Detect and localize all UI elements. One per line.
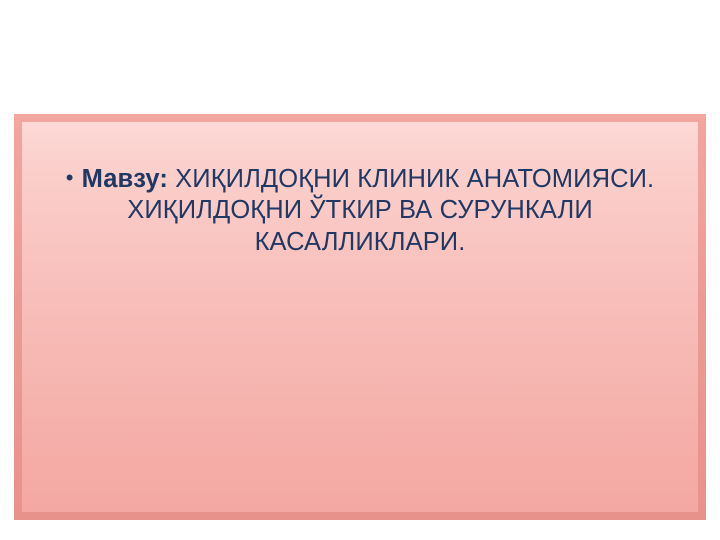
topic-title-text: ХИҚИЛДОҚНИ КЛИНИК АНАТОМИЯСИ. ХИҚИЛДОҚНИ… xyxy=(127,165,654,256)
bullet-list-item: •Мавзу: ХИҚИЛДОҚНИ КЛИНИК АНАТОМИЯСИ. ХИ… xyxy=(44,164,676,259)
bullet-point-icon: • xyxy=(66,167,74,189)
topic-title: ХИҚИЛДОҚНИ КЛИНИК АНАТОМИЯСИ. ХИҚИЛДОҚНИ… xyxy=(127,165,654,256)
content-panel: •Мавзу: ХИҚИЛДОҚНИ КЛИНИК АНАТОМИЯСИ. ХИ… xyxy=(22,122,698,512)
bullet-list: •Мавзу: ХИҚИЛДОҚНИ КЛИНИК АНАТОМИЯСИ. ХИ… xyxy=(44,164,676,259)
content-frame: •Мавзу: ХИҚИЛДОҚНИ КЛИНИК АНАТОМИЯСИ. ХИ… xyxy=(14,114,706,520)
slide: •Мавзу: ХИҚИЛДОҚНИ КЛИНИК АНАТОМИЯСИ. ХИ… xyxy=(0,0,720,540)
topic-label: Мавзу: xyxy=(82,165,168,193)
